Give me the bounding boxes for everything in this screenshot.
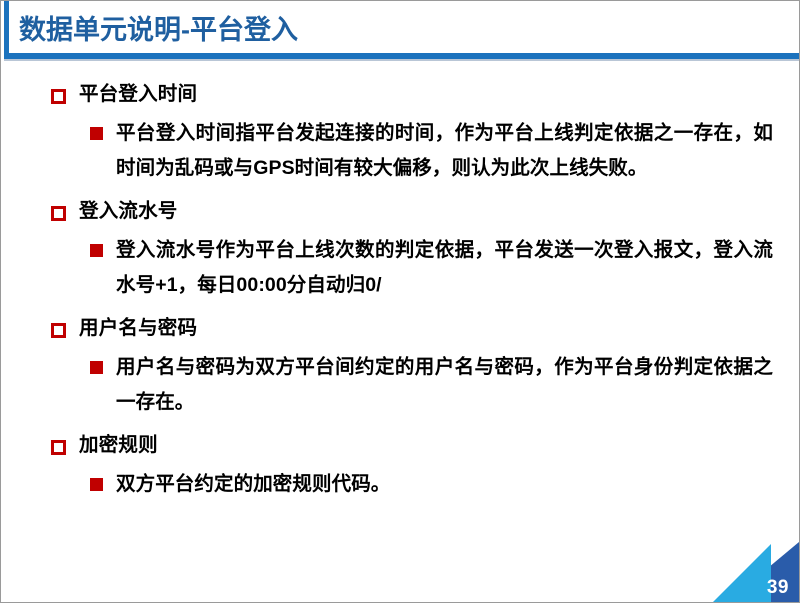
page-number-corner: 39 (679, 532, 799, 602)
filled-square-bullet-icon (90, 127, 103, 140)
page-title: 数据单元说明-平台登入 (19, 11, 298, 49)
hollow-square-bullet-icon (51, 323, 66, 338)
slide-body: 平台登入时间 平台登入时间指平台发起连接的时间，作为平台上线判定依据之一存在，如… (1, 79, 800, 512)
bullet-level2-item: 登入流水号作为平台上线次数的判定依据，平台发送一次登入报文，登入流水号+1，每日… (1, 233, 800, 303)
title-left-accent-bar (4, 1, 9, 59)
slide-canvas: 数据单元说明-平台登入 平台登入时间 平台登入时间指平台发起连接的时间，作为平台… (0, 0, 800, 603)
bullet-group-3: 用户名与密码 用户名与密码为双方平台间约定的用户名与密码，作为平台身份判定依据之… (1, 313, 800, 420)
title-underline-shadow (4, 59, 799, 61)
corner-light-triangle-icon (713, 544, 771, 602)
hollow-square-bullet-icon (51, 89, 66, 104)
hollow-square-bullet-icon (51, 440, 66, 455)
bullet-level1-item: 加密规则 (1, 430, 800, 461)
bullet-level1-label: 平台登入时间 (79, 83, 197, 105)
bullet-level1-item: 用户名与密码 (1, 313, 800, 344)
page-number: 39 (767, 577, 789, 599)
bullet-level2-item: 用户名与密码为双方平台间约定的用户名与密码，作为平台身份判定依据之一存在。 (1, 350, 800, 420)
bullet-level2-label: 用户名与密码为双方平台间约定的用户名与密码，作为平台身份判定依据之一存在。 (116, 350, 773, 420)
corner-dark-triangle-icon (727, 542, 799, 602)
bullet-level1-item: 登入流水号 (1, 196, 800, 227)
bullet-level2-item: 平台登入时间指平台发起连接的时间，作为平台上线判定依据之一存在，如时间为乱码或与… (1, 116, 800, 186)
filled-square-bullet-icon (90, 244, 103, 257)
bullet-level2-item: 双方平台约定的加密规则代码。 (1, 467, 800, 502)
bullet-level1-label: 登入流水号 (79, 200, 178, 222)
bullet-level2-label: 平台登入时间指平台发起连接的时间，作为平台上线判定依据之一存在，如时间为乱码或与… (116, 116, 773, 186)
bullet-group-1: 平台登入时间 平台登入时间指平台发起连接的时间，作为平台上线判定依据之一存在，如… (1, 79, 800, 186)
bullet-group-2: 登入流水号 登入流水号作为平台上线次数的判定依据，平台发送一次登入报文，登入流水… (1, 196, 800, 303)
bullet-level1-label: 用户名与密码 (79, 317, 197, 339)
filled-square-bullet-icon (90, 478, 103, 491)
bullet-level1-item: 平台登入时间 (1, 79, 800, 110)
bullet-level2-label: 登入流水号作为平台上线次数的判定依据，平台发送一次登入报文，登入流水号+1，每日… (116, 233, 773, 303)
bullet-level2-label: 双方平台约定的加密规则代码。 (116, 467, 773, 502)
bullet-level1-label: 加密规则 (79, 434, 158, 456)
hollow-square-bullet-icon (51, 206, 66, 221)
bullet-group-4: 加密规则 双方平台约定的加密规则代码。 (1, 430, 800, 502)
filled-square-bullet-icon (90, 361, 103, 374)
